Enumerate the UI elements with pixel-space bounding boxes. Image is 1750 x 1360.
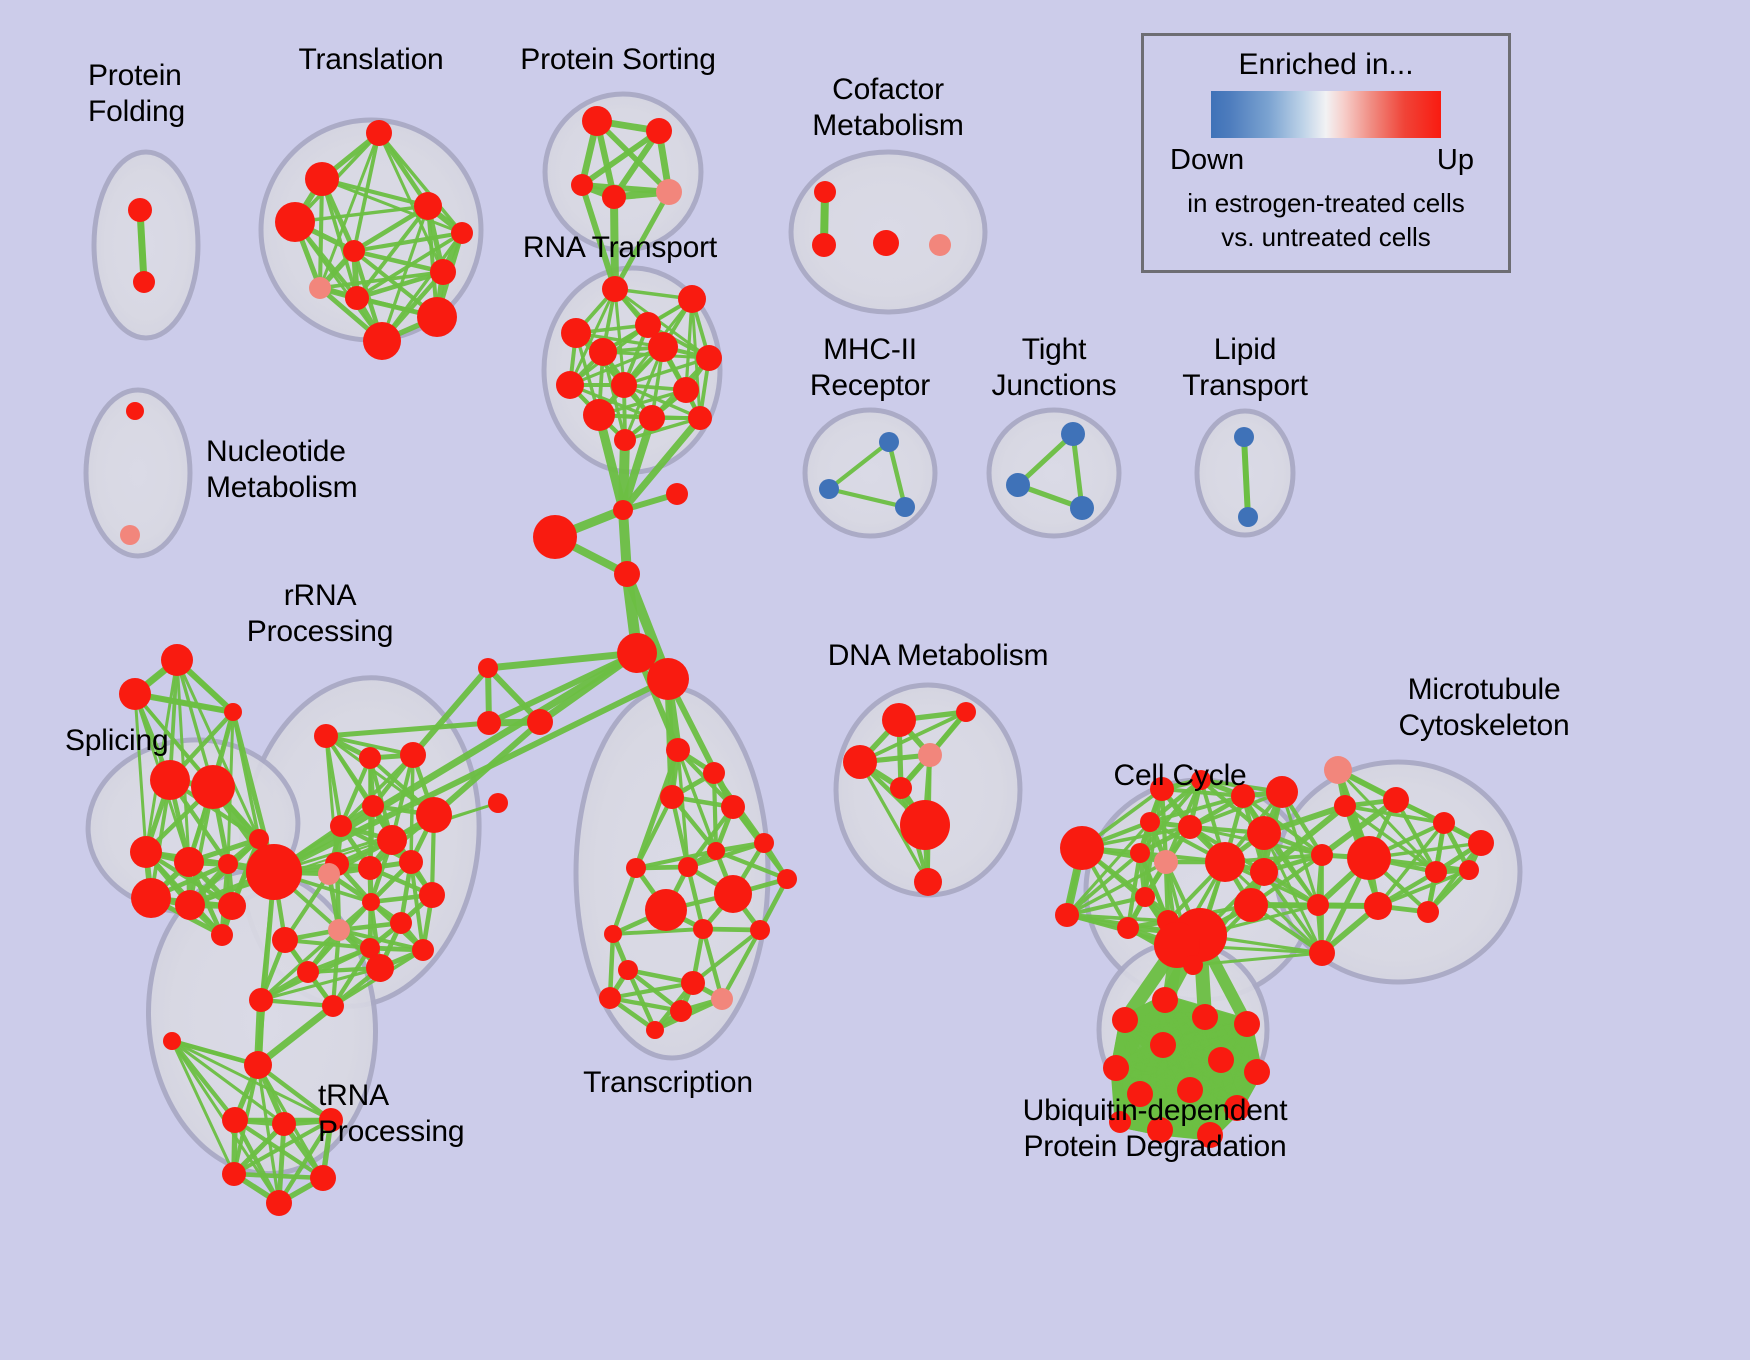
legend-low-label: Down — [1170, 144, 1244, 177]
network-node[interactable] — [681, 971, 705, 995]
network-node[interactable] — [430, 259, 456, 285]
network-node[interactable] — [1103, 1055, 1129, 1081]
network-node[interactable] — [275, 202, 315, 242]
network-node[interactable] — [174, 847, 204, 877]
network-node[interactable] — [614, 561, 640, 587]
network-node[interactable] — [618, 960, 638, 980]
network-node[interactable] — [602, 185, 626, 209]
network-node[interactable] — [703, 762, 725, 784]
network-node[interactable] — [1205, 842, 1245, 882]
network-node[interactable] — [1130, 843, 1150, 863]
network-node[interactable] — [879, 432, 899, 452]
cluster-label-protein-folding: ProteinFolding — [88, 58, 185, 130]
network-node[interactable] — [222, 1162, 246, 1186]
network-node[interactable] — [646, 118, 672, 144]
network-node[interactable] — [696, 345, 722, 371]
network-node[interactable] — [120, 525, 140, 545]
network-node[interactable] — [318, 863, 340, 885]
network-node[interactable] — [1266, 776, 1298, 808]
network-node[interactable] — [126, 402, 144, 420]
cluster-label-tight-junctions: TightJunctions — [992, 332, 1117, 404]
network-node[interactable] — [417, 297, 457, 337]
network-node[interactable] — [956, 702, 976, 722]
network-node[interactable] — [533, 515, 577, 559]
network-node[interactable] — [1433, 812, 1455, 834]
network-node[interactable] — [556, 371, 584, 399]
network-edge — [1244, 437, 1248, 517]
network-node[interactable] — [666, 738, 690, 762]
network-node[interactable] — [218, 854, 238, 874]
network-node[interactable] — [362, 795, 384, 817]
network-node[interactable] — [583, 399, 615, 431]
network-node[interactable] — [1247, 816, 1281, 850]
network-node[interactable] — [218, 892, 246, 920]
network-node[interactable] — [328, 919, 350, 941]
cluster-label-rna-transport: RNA Transport — [523, 230, 717, 266]
cluster-ellipse-protein-sorting — [545, 94, 701, 250]
network-node[interactable] — [678, 285, 706, 313]
network-node[interactable] — [589, 338, 617, 366]
network-node[interactable] — [648, 332, 678, 362]
network-node[interactable] — [399, 850, 423, 874]
network-node[interactable] — [1192, 1004, 1218, 1030]
network-node[interactable] — [688, 406, 712, 430]
cluster-label-translation: Translation — [298, 42, 443, 78]
legend-color-gradient-bar — [1211, 91, 1441, 138]
cluster-label-lipid-transport: LipidTransport — [1182, 332, 1307, 404]
network-node[interactable] — [175, 890, 205, 920]
network-node[interactable] — [613, 500, 633, 520]
cluster-label-rrna-processing: rRNAProcessing — [247, 578, 393, 650]
network-node[interactable] — [246, 844, 302, 900]
network-node[interactable] — [211, 924, 233, 946]
network-node[interactable] — [918, 743, 942, 767]
network-node[interactable] — [1250, 858, 1278, 886]
network-node[interactable] — [131, 878, 171, 918]
network-node[interactable] — [390, 912, 412, 934]
network-node[interactable] — [400, 742, 426, 768]
network-node[interactable] — [249, 988, 273, 1012]
network-node[interactable] — [412, 939, 434, 961]
network-node[interactable] — [1150, 1032, 1176, 1058]
network-node[interactable] — [163, 1032, 181, 1050]
network-node[interactable] — [1154, 850, 1178, 874]
network-node[interactable] — [366, 120, 392, 146]
network-node[interactable] — [488, 793, 508, 813]
network-node[interactable] — [678, 857, 698, 877]
cluster-label-mhc-ii-receptor: MHC-IIReceptor — [810, 332, 930, 404]
network-node[interactable] — [358, 856, 382, 880]
network-node[interactable] — [244, 1051, 272, 1079]
network-node[interactable] — [645, 889, 687, 931]
network-node[interactable] — [673, 377, 699, 403]
network-node[interactable] — [1061, 422, 1085, 446]
network-node[interactable] — [161, 644, 193, 676]
network-edge — [411, 755, 413, 862]
network-node[interactable] — [646, 1021, 664, 1039]
network-node[interactable] — [222, 1107, 248, 1133]
network-node[interactable] — [527, 709, 553, 735]
network-node[interactable] — [343, 240, 365, 262]
network-node[interactable] — [1468, 830, 1494, 856]
network-node[interactable] — [647, 658, 689, 700]
network-node[interactable] — [1417, 901, 1439, 923]
network-node[interactable] — [1135, 887, 1155, 907]
network-node[interactable] — [1334, 795, 1356, 817]
cluster-label-splicing: Splicing — [65, 723, 168, 759]
cluster-label-protein-sorting: Protein Sorting — [520, 42, 715, 78]
network-node[interactable] — [814, 181, 836, 203]
network-node[interactable] — [345, 286, 369, 310]
network-node[interactable] — [310, 1165, 336, 1191]
network-node[interactable] — [1234, 888, 1268, 922]
cluster-label-nucleotide-metabolism: NucleotideMetabolism — [206, 434, 357, 506]
network-node[interactable] — [604, 925, 622, 943]
network-node[interactable] — [305, 162, 339, 196]
network-node[interactable] — [670, 1000, 692, 1022]
network-node[interactable] — [119, 678, 151, 710]
network-node[interactable] — [1238, 507, 1258, 527]
network-node[interactable] — [478, 658, 498, 678]
network-node[interactable] — [322, 995, 344, 1017]
network-node[interactable] — [1309, 940, 1335, 966]
network-edge — [234, 1174, 323, 1178]
network-node[interactable] — [693, 919, 713, 939]
network-node[interactable] — [451, 222, 473, 244]
network-node[interactable] — [366, 954, 394, 982]
legend-high-label: Up — [1437, 144, 1474, 177]
network-node[interactable] — [1183, 955, 1203, 975]
legend-caption-line-1: in estrogen-treated cells — [1144, 188, 1508, 219]
network-node[interactable] — [272, 1112, 296, 1136]
network-node[interactable] — [128, 198, 152, 222]
network-node[interactable] — [611, 372, 637, 398]
network-node[interactable] — [1234, 427, 1254, 447]
network-node[interactable] — [1311, 844, 1333, 866]
network-node[interactable] — [1425, 861, 1447, 883]
cluster-label-ubiquitin-protein-degradation: Ubiquitin-dependentProtein Degradation — [1023, 1093, 1288, 1165]
network-node[interactable] — [1208, 1047, 1234, 1073]
cluster-label-dna-metabolism: DNA Metabolism — [828, 638, 1049, 674]
network-node[interactable] — [133, 271, 155, 293]
network-node[interactable] — [900, 800, 950, 850]
network-node[interactable] — [819, 479, 839, 499]
network-node[interactable] — [1234, 1011, 1260, 1037]
network-node[interactable] — [266, 1190, 292, 1216]
network-node[interactable] — [363, 322, 401, 360]
network-node[interactable] — [914, 868, 942, 896]
cluster-ellipse-protein-folding — [94, 152, 198, 338]
network-node[interactable] — [477, 711, 501, 735]
network-node[interactable] — [571, 174, 593, 196]
network-node[interactable] — [359, 747, 381, 769]
network-node[interactable] — [330, 815, 352, 837]
enrichment-map-figure: ProteinFoldingTranslationProtein Sorting… — [0, 0, 1750, 1360]
network-node[interactable] — [191, 765, 235, 809]
network-node[interactable] — [777, 869, 797, 889]
network-node[interactable] — [890, 777, 912, 799]
network-node[interactable] — [656, 179, 682, 205]
network-node[interactable] — [750, 920, 770, 940]
network-node[interactable] — [1383, 787, 1409, 813]
legend-caption-line-2: vs. untreated cells — [1144, 222, 1508, 253]
network-node[interactable] — [297, 961, 319, 983]
network-node[interactable] — [414, 192, 442, 220]
network-node[interactable] — [224, 703, 242, 721]
network-node[interactable] — [882, 703, 916, 737]
network-node[interactable] — [1070, 496, 1094, 520]
network-node[interactable] — [1152, 987, 1178, 1013]
cluster-ellipse-tight-junctions — [989, 410, 1119, 536]
network-node[interactable] — [666, 483, 688, 505]
cluster-label-cofactor-metabolism: CofactorMetabolism — [812, 72, 963, 144]
network-node[interactable] — [754, 833, 774, 853]
network-node[interactable] — [1307, 894, 1329, 916]
network-node[interactable] — [561, 318, 591, 348]
network-node[interactable] — [714, 875, 752, 913]
network-node[interactable] — [150, 760, 190, 800]
cluster-ellipse-mhc-ii-receptor — [805, 410, 935, 536]
network-node[interactable] — [639, 405, 665, 431]
network-node[interactable] — [1140, 812, 1160, 832]
network-node[interactable] — [1006, 473, 1030, 497]
network-node[interactable] — [599, 987, 621, 1009]
network-node[interactable] — [419, 882, 445, 908]
network-node[interactable] — [660, 785, 684, 809]
network-node[interactable] — [309, 277, 331, 299]
network-node[interactable] — [1112, 1007, 1138, 1033]
network-node[interactable] — [812, 233, 836, 257]
network-edge — [714, 773, 716, 851]
network-node[interactable] — [895, 497, 915, 517]
cluster-label-cell-cycle: Cell Cycle — [1113, 758, 1246, 794]
network-node[interactable] — [602, 276, 628, 302]
network-node[interactable] — [1055, 903, 1079, 927]
network-node[interactable] — [1117, 917, 1139, 939]
network-node[interactable] — [1347, 836, 1391, 880]
network-node[interactable] — [626, 858, 646, 878]
network-node[interactable] — [711, 988, 733, 1010]
network-node[interactable] — [1324, 756, 1352, 784]
cluster-label-microtubule-cytoskeleton: MicrotubuleCytoskeleton — [1398, 672, 1569, 744]
legend-box: Enriched in... Down Up in estrogen-treat… — [1141, 33, 1511, 273]
network-node[interactable] — [843, 745, 877, 779]
network-node[interactable] — [929, 234, 951, 256]
network-node[interactable] — [272, 927, 298, 953]
legend-title: Enriched in... — [1144, 48, 1508, 82]
network-node[interactable] — [416, 797, 452, 833]
network-node[interactable] — [582, 106, 612, 136]
cluster-label-transcription: Transcription — [583, 1065, 753, 1101]
network-node[interactable] — [707, 842, 725, 860]
network-node[interactable] — [1244, 1059, 1270, 1085]
network-node[interactable] — [362, 893, 380, 911]
network-node[interactable] — [873, 230, 899, 256]
network-node[interactable] — [1060, 826, 1104, 870]
network-node[interactable] — [1364, 892, 1392, 920]
network-node[interactable] — [614, 429, 636, 451]
network-node[interactable] — [314, 724, 338, 748]
network-node[interactable] — [377, 825, 407, 855]
network-node[interactable] — [1459, 860, 1479, 880]
network-node[interactable] — [130, 836, 162, 868]
cluster-label-trna-processing: tRNAProcessing — [318, 1078, 464, 1150]
network-node[interactable] — [1178, 815, 1202, 839]
network-node[interactable] — [721, 795, 745, 819]
